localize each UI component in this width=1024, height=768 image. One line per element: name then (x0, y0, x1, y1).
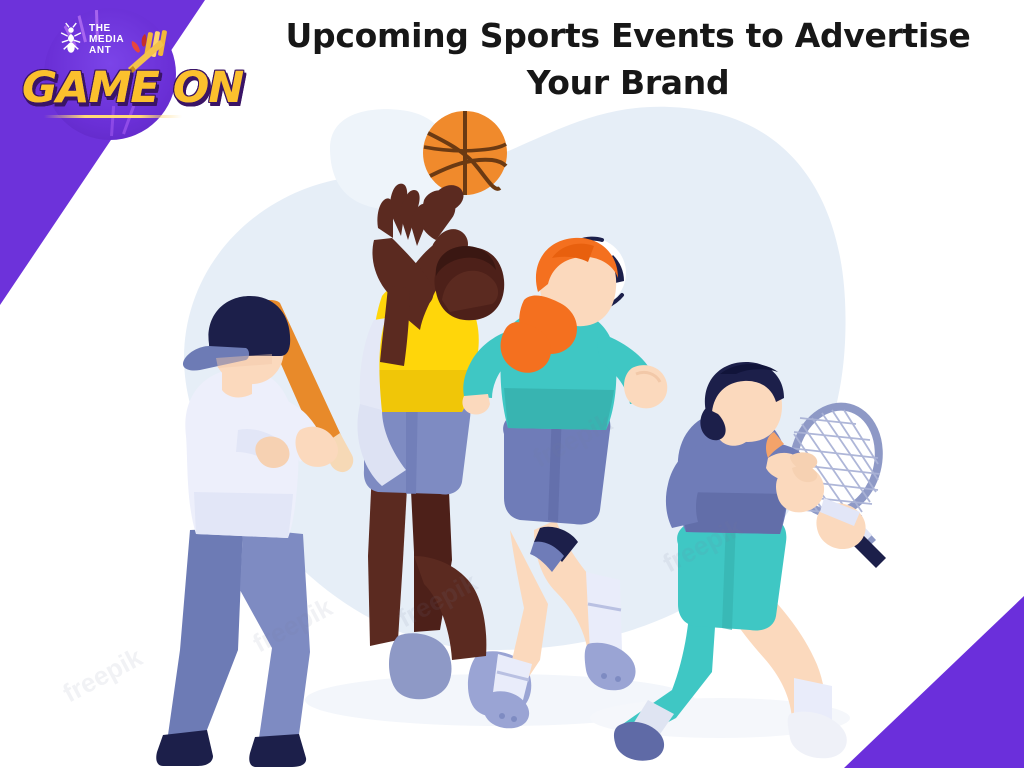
the-media-ant-game-on-logo[interactable]: THE MEDIA ANT GAME ON (16, 2, 206, 147)
baseball-shoe-left (156, 730, 213, 766)
baseball-shoe-right (249, 734, 306, 767)
basketball-icon (423, 111, 507, 195)
game-on-underline (44, 115, 182, 118)
sports-events-banner: freepik freepik freepik freepik freepik … (0, 0, 1024, 768)
brand-line-3: ANT (89, 45, 124, 56)
brand-line-2: MEDIA (89, 34, 124, 45)
brand-lockup: THE MEDIA ANT (58, 22, 124, 56)
page-title: Upcoming Sports Events to Advertise Your… (248, 12, 1008, 106)
ant-icon (58, 22, 84, 56)
game-on-wordmark: GAME ON (22, 62, 206, 114)
brand-line-1: THE (89, 23, 124, 34)
brand-wordmark: THE MEDIA ANT (89, 23, 124, 56)
